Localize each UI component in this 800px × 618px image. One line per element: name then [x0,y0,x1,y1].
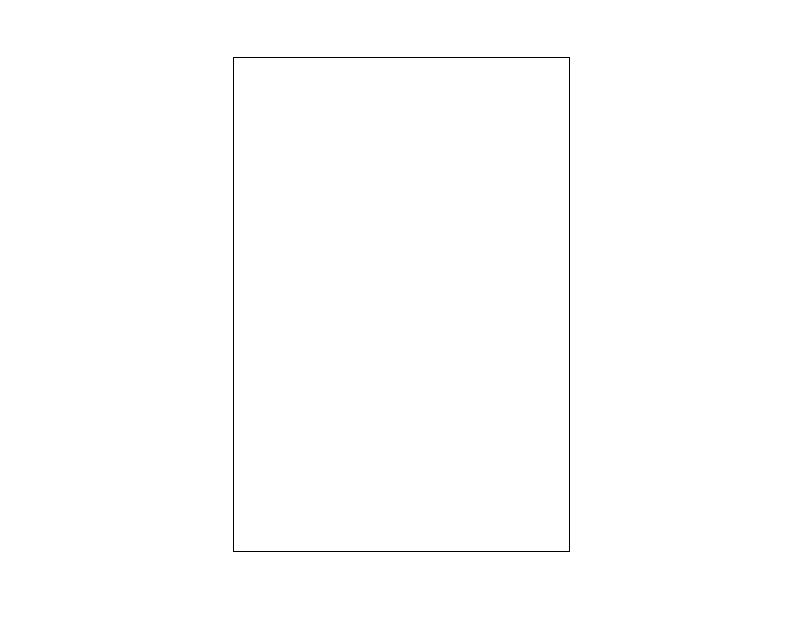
country-borders-overlay [234,58,569,551]
map-plot-area [233,57,570,552]
colorbar [670,57,695,553]
